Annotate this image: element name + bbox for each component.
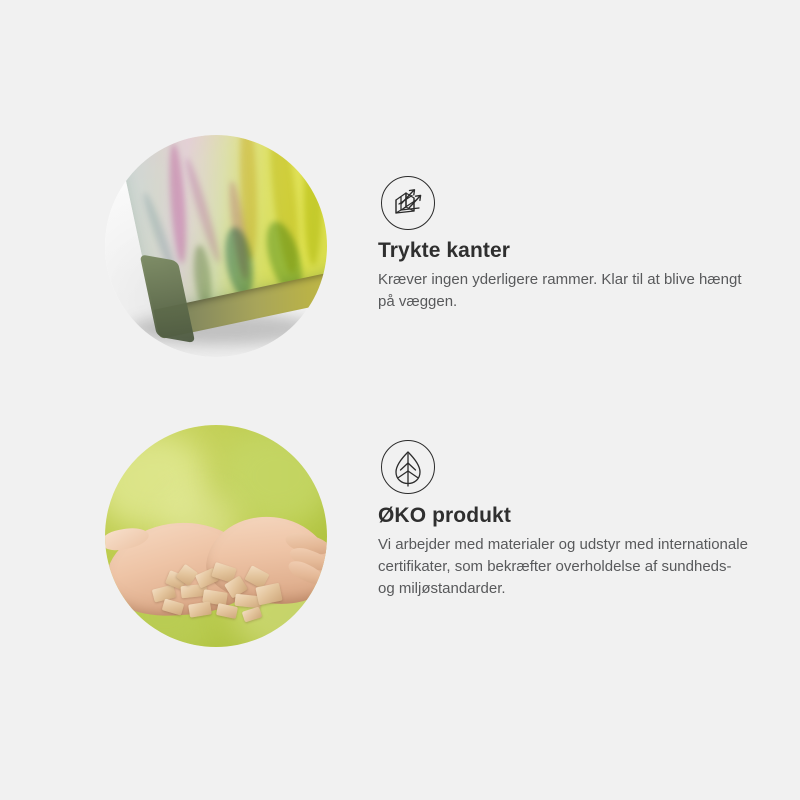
- photo-circle: [105, 425, 327, 647]
- feature-description: Kræver ingen yderligere rammer. Klar til…: [378, 269, 750, 313]
- canvas-print-corner-photo: [105, 135, 327, 357]
- feature-title: ØKO produkt: [378, 503, 758, 528]
- feature-description: Vi arbejder med materialer og udstyr med…: [378, 534, 750, 600]
- feature-row-eco-product: ØKO produkt Vi arbejder med materialer o…: [0, 415, 800, 660]
- hands: [105, 499, 327, 617]
- wood-chips: [151, 565, 283, 627]
- feature-panel: Trykte kanter Kræver ingen yderligere ra…: [0, 0, 800, 800]
- photo-background: [105, 135, 327, 357]
- feature-text-block: Trykte kanter Kræver ingen yderligere ra…: [378, 238, 758, 313]
- canvas-wrapped-edge-icon: [381, 176, 435, 230]
- photo-circle: [105, 135, 327, 357]
- hands-with-wood-chips-photo: [105, 425, 327, 647]
- feature-row-printed-edges: Trykte kanter Kræver ingen yderligere ra…: [0, 125, 800, 390]
- feature-title: Trykte kanter: [378, 238, 758, 263]
- leaf-icon: [381, 440, 435, 494]
- photo-background: [105, 425, 327, 647]
- feature-text-block: ØKO produkt Vi arbejder med materialer o…: [378, 503, 758, 600]
